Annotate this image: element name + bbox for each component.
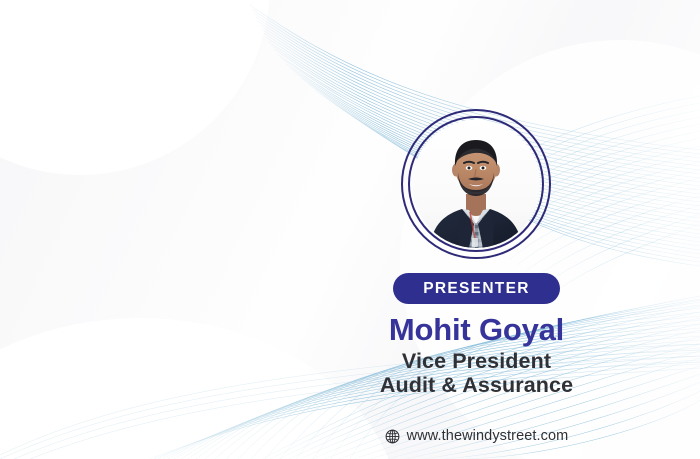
presenter-role-line-2: Audit & Assurance (300, 373, 653, 397)
presenter-role-line-1: Vice President (300, 349, 653, 373)
globe-icon (385, 429, 400, 444)
presenter-badge: PRESENTER (393, 273, 560, 304)
photo-image (412, 120, 540, 248)
presenter-photo (401, 109, 551, 259)
website-row[interactable]: www.thewindystreet.com (300, 428, 653, 444)
presenter-announcement-card: PRESENTER Mohit Goyal Vice President Aud… (0, 0, 700, 459)
website-url[interactable]: www.thewindystreet.com (407, 428, 569, 444)
presenter-name: Mohit Goyal (300, 313, 653, 346)
presenter-details: Mohit Goyal Vice President Audit & Assur… (300, 313, 653, 397)
decorative-circle-top-left (0, 0, 270, 175)
